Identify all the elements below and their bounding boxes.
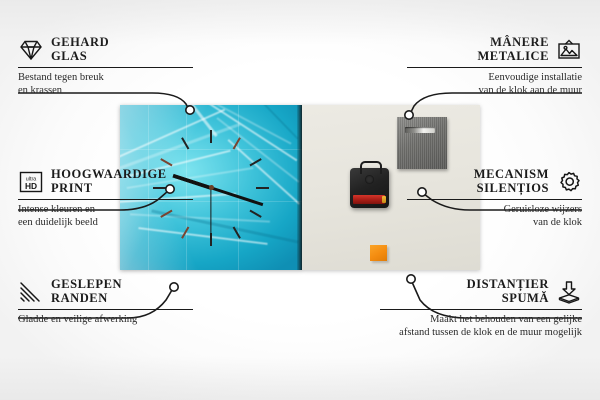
callout-geslepen-randen: GESLEPEN RANDEN Gladde en veilige afwerk… [18, 278, 193, 327]
callout-rule [18, 309, 193, 310]
callout-subtitle: Maakt het behouden van een gelijke afsta… [380, 314, 582, 339]
diamond-icon [18, 38, 44, 62]
callout-rule [407, 199, 582, 200]
callout-title: HOOGWAARDIGE PRINT [51, 168, 167, 195]
callout-subtitle: Gladde en veilige afwerking [18, 314, 193, 327]
callout-gehard-glas: GEHARD GLAS Bestand tegen breuk en krass… [18, 36, 193, 97]
picture-hanger-icon [556, 38, 582, 62]
infographic-canvas: GEHARD GLAS Bestand tegen breuk en krass… [0, 0, 600, 400]
callout-title: MECANISM SILENȚIOS [474, 168, 549, 195]
foam-spacer-icon [556, 280, 582, 304]
ultra-hd-icon: ultra HD [18, 170, 44, 194]
callout-rule [18, 67, 193, 68]
battery [353, 195, 385, 204]
callout-subtitle: Intense kleuren en een duidelijk beeld [18, 204, 193, 229]
callout-mecanism-silentios: MECANISM SILENȚIOS Geruisloze wijzers va… [407, 168, 582, 229]
callout-rule [18, 199, 193, 200]
callout-rule [380, 309, 582, 310]
callout-subtitle: Geruisloze wijzers van de klok [407, 204, 582, 229]
hanger-loop [360, 161, 382, 174]
callout-title: MÂNERE METALICE [477, 36, 549, 63]
keyhole-slot [405, 127, 435, 133]
callout-title: GESLEPEN RANDEN [51, 278, 122, 305]
callout-distantier-spuma: DISTANȚIER SPUMĂ Maakt het behouden van … [380, 278, 582, 339]
clock-center-cap [209, 185, 214, 190]
metal-hanger-plate [397, 117, 447, 169]
gear-icon [556, 170, 582, 194]
svg-text:HD: HD [25, 180, 37, 190]
callout-hoogwaardige-print: ultra HD HOOGWAARDIGE PRINT Intense kleu… [18, 168, 193, 229]
callout-subtitle: Bestand tegen breuk en krassen [18, 72, 193, 97]
callout-title: DISTANȚIER SPUMĂ [467, 278, 549, 305]
mechanism-shaft [365, 175, 374, 184]
callout-manere-metalice: MÂNERE METALICE Eenvoudige installatie v… [407, 36, 582, 97]
bevelled-edges-icon [18, 280, 44, 304]
callout-subtitle: Eenvoudige installatie van de klok aan d… [407, 72, 582, 97]
callout-rule [407, 67, 582, 68]
clock-mechanism [350, 168, 389, 208]
battery-tip [382, 196, 386, 203]
foam-spacer [370, 245, 387, 261]
callout-title: GEHARD GLAS [51, 36, 109, 63]
